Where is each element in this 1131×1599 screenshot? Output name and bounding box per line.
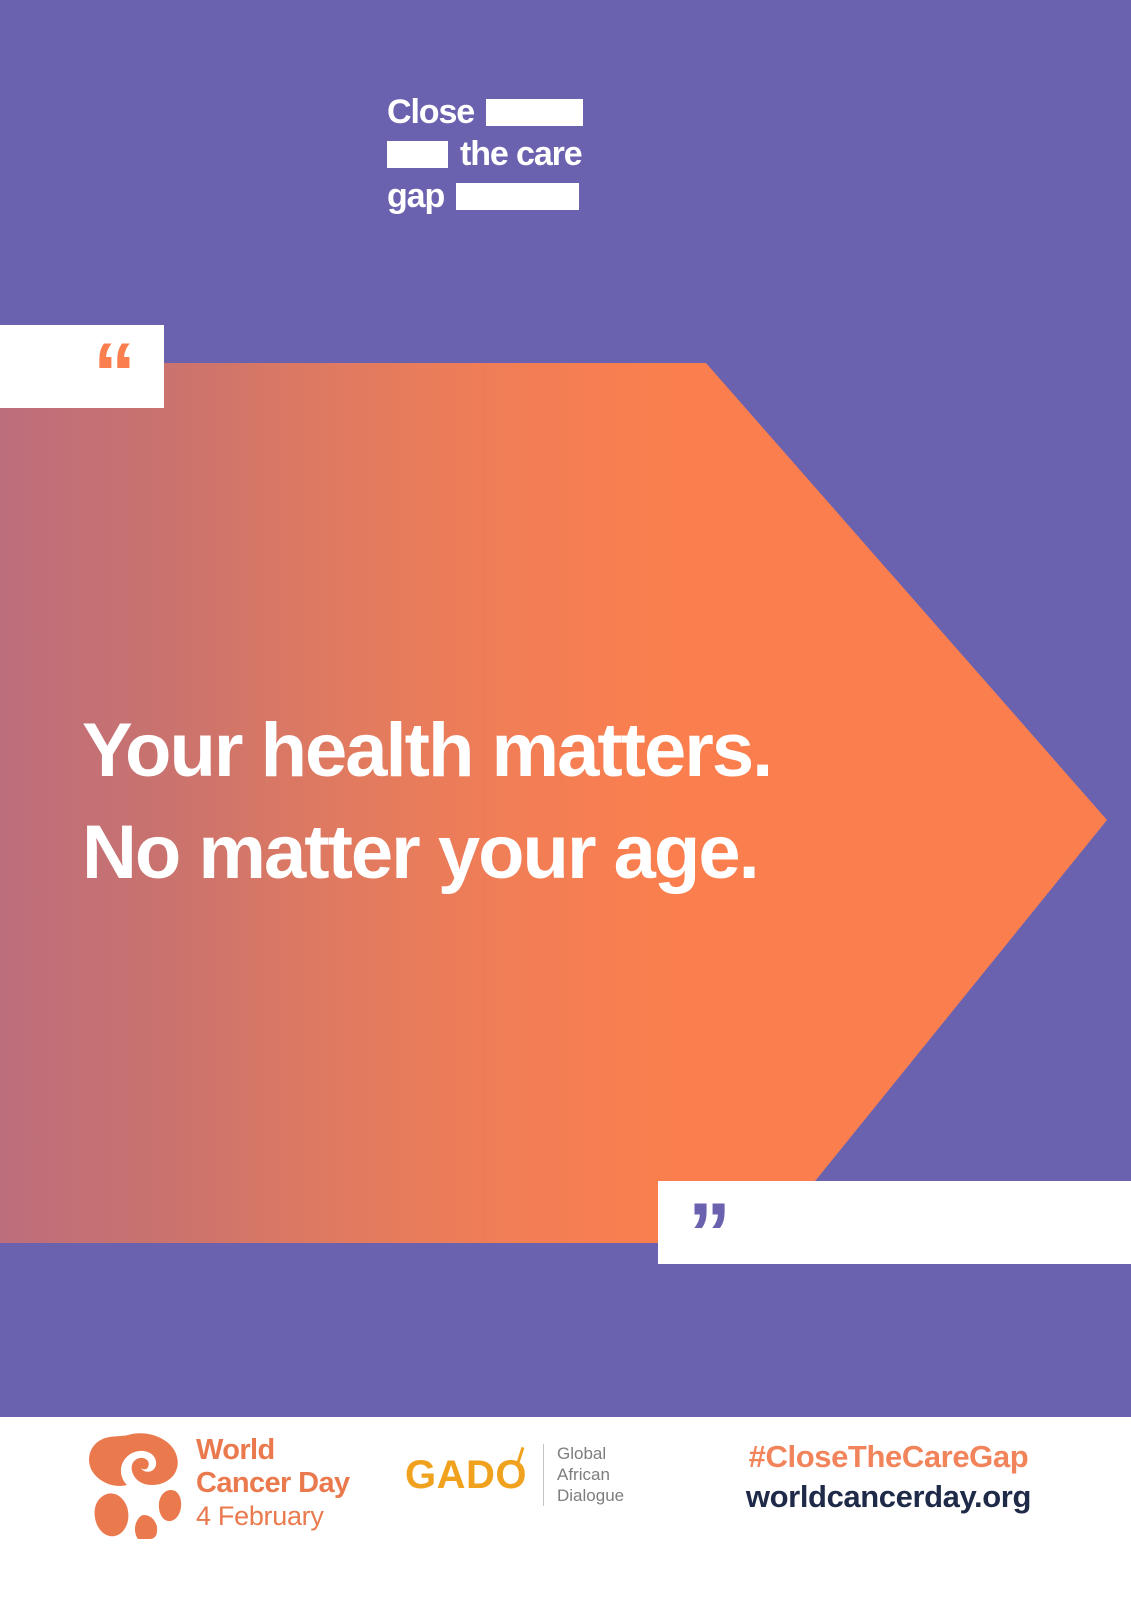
gado-subtitle: Global African Dialogue — [557, 1443, 624, 1506]
wcd-title-line-1: World — [196, 1434, 350, 1467]
headline-line-1: Your health matters. — [82, 700, 982, 802]
headline-block: Your health matters. No matter your age. — [82, 700, 982, 904]
gado-subtitle-line-3: Dialogue — [557, 1485, 624, 1506]
world-cancer-day-text: World Cancer Day 4 February — [196, 1434, 350, 1532]
logo-bar-3 — [456, 183, 579, 210]
gado-subtitle-line-2: African — [557, 1464, 624, 1485]
world-cancer-day-mark-icon — [78, 1427, 182, 1539]
logo-line-1: Close — [387, 94, 583, 130]
logo-line-3: gap — [387, 178, 579, 214]
wcd-date: 4 February — [196, 1500, 350, 1532]
close-the-care-gap-logo: Close the care gap — [387, 92, 597, 222]
gado-wordmark: GADO — [405, 1453, 527, 1497]
gado-divider — [543, 1444, 544, 1506]
wcd-title-line-2: Cancer Day — [196, 1467, 350, 1500]
gado-subtitle-line-1: Global — [557, 1443, 624, 1464]
logo-word-the-care: the care — [460, 137, 582, 171]
campaign-hashtag: #CloseTheCareGap — [746, 1437, 1031, 1477]
campaign-url[interactable]: worldcancerday.org — [746, 1477, 1031, 1517]
closing-quote-box: ” — [658, 1181, 1131, 1264]
world-cancer-day-logo: World Cancer Day 4 February — [78, 1427, 350, 1539]
logo-line-2: the care — [387, 136, 582, 172]
logo-bar-1 — [486, 99, 583, 126]
cta-block: #CloseTheCareGap worldcancerday.org — [746, 1437, 1031, 1517]
poster-canvas: Close the care gap “ Your health matters… — [0, 0, 1131, 1599]
gado-wordmark-text: GADO — [405, 1453, 527, 1497]
logo-bar-2 — [387, 141, 448, 168]
headline-line-2: No matter your age. — [82, 802, 982, 904]
logo-word-gap: gap — [387, 179, 444, 213]
logo-word-close: Close — [387, 95, 474, 129]
gado-logo: GADO Global African Dialogue — [405, 1443, 624, 1506]
opening-quote-box: “ — [0, 325, 164, 408]
